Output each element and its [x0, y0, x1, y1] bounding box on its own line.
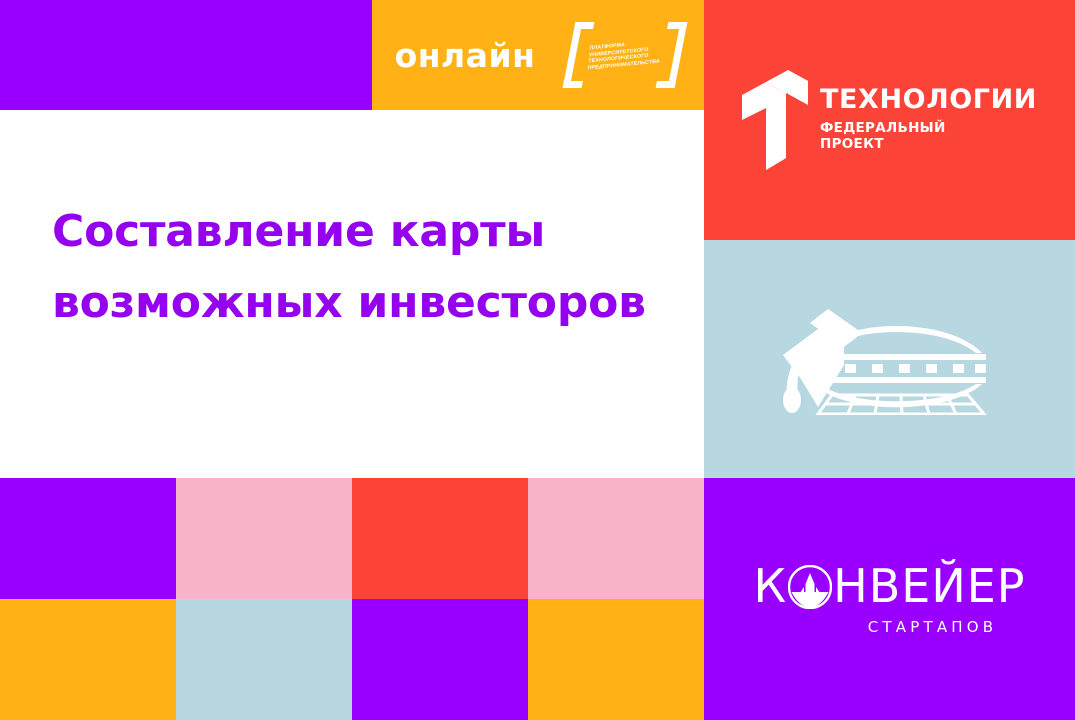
tech-logo-subtitle-line-1: ФЕДЕРАЛЬНЫЙ	[820, 120, 1037, 136]
numeral-one-mark-icon	[742, 70, 808, 170]
mosaic-cell-r2c3	[352, 599, 528, 720]
mosaic-cell-r1c1	[0, 478, 176, 599]
tech-federal-project-logo: ТЕХНОЛОГИИ ФЕДЕРАЛЬНЫЙ ПРОЕКТ	[704, 0, 1075, 240]
graduation-cap-arena-icon	[770, 303, 1010, 415]
tech-logo-text: ТЕХНОЛОГИИ ФЕДЕРАЛЬНЫЙ ПРОЕКТ	[820, 86, 1037, 155]
platform-bracket-logo: ПЛАТФОРМА УНИВЕРСИТЕТСКОГО ТЕХНОЛОГИЧЕСК…	[569, 22, 681, 88]
conveyor-subtitle: СТАРТАПОВ	[868, 618, 998, 636]
presentation-slide: онлайн ПЛАТФОРМА УНИВЕРСИТЕТСКОГО ТЕХНОЛ…	[0, 0, 1075, 720]
online-label: онлайн	[395, 39, 536, 72]
tech-logo-subtitle: ФЕДЕРАЛЬНЫЙ ПРОЕКТ	[820, 120, 1037, 153]
page-title-line-1: Составление карты	[52, 196, 672, 267]
page-title-line-2: возможных инвесторов	[52, 267, 672, 338]
conveyor-wordmark: К НВЕЙЕР	[753, 563, 1025, 609]
mosaic-cell-r2c2	[176, 599, 352, 720]
tech-logo-subtitle-line-2: ПРОЕКТ	[820, 136, 1037, 152]
conveyor-word-part2: НВЕЙЕР	[833, 563, 1025, 609]
top-purple-block	[0, 0, 372, 110]
mosaic-cell-r1c3	[352, 478, 528, 599]
conveyor-startups-logo: К НВЕЙЕР СТАРТАПОВ	[704, 478, 1075, 720]
online-banner: онлайн ПЛАТФОРМА УНИВЕРСИТЕТСКОГО ТЕХНОЛ…	[372, 0, 704, 110]
platform-logo-text: ПЛАТФОРМА УНИВЕРСИТЕТСКОГО ТЕХНОЛОГИЧЕСК…	[588, 38, 664, 71]
mosaic-cell-r1c2	[176, 478, 352, 599]
mosaic-cell-r2c4	[528, 599, 704, 720]
mosaic-cell-r1c4	[528, 478, 704, 599]
rocket-circle-icon	[788, 565, 832, 609]
mosaic-cell-r2c1	[0, 599, 176, 720]
arena-logo	[704, 240, 1075, 478]
conveyor-word-part1: К	[753, 563, 787, 609]
page-title: Составление карты возможных инвесторов	[52, 196, 672, 339]
tech-logo-title: ТЕХНОЛОГИИ	[820, 86, 1037, 113]
